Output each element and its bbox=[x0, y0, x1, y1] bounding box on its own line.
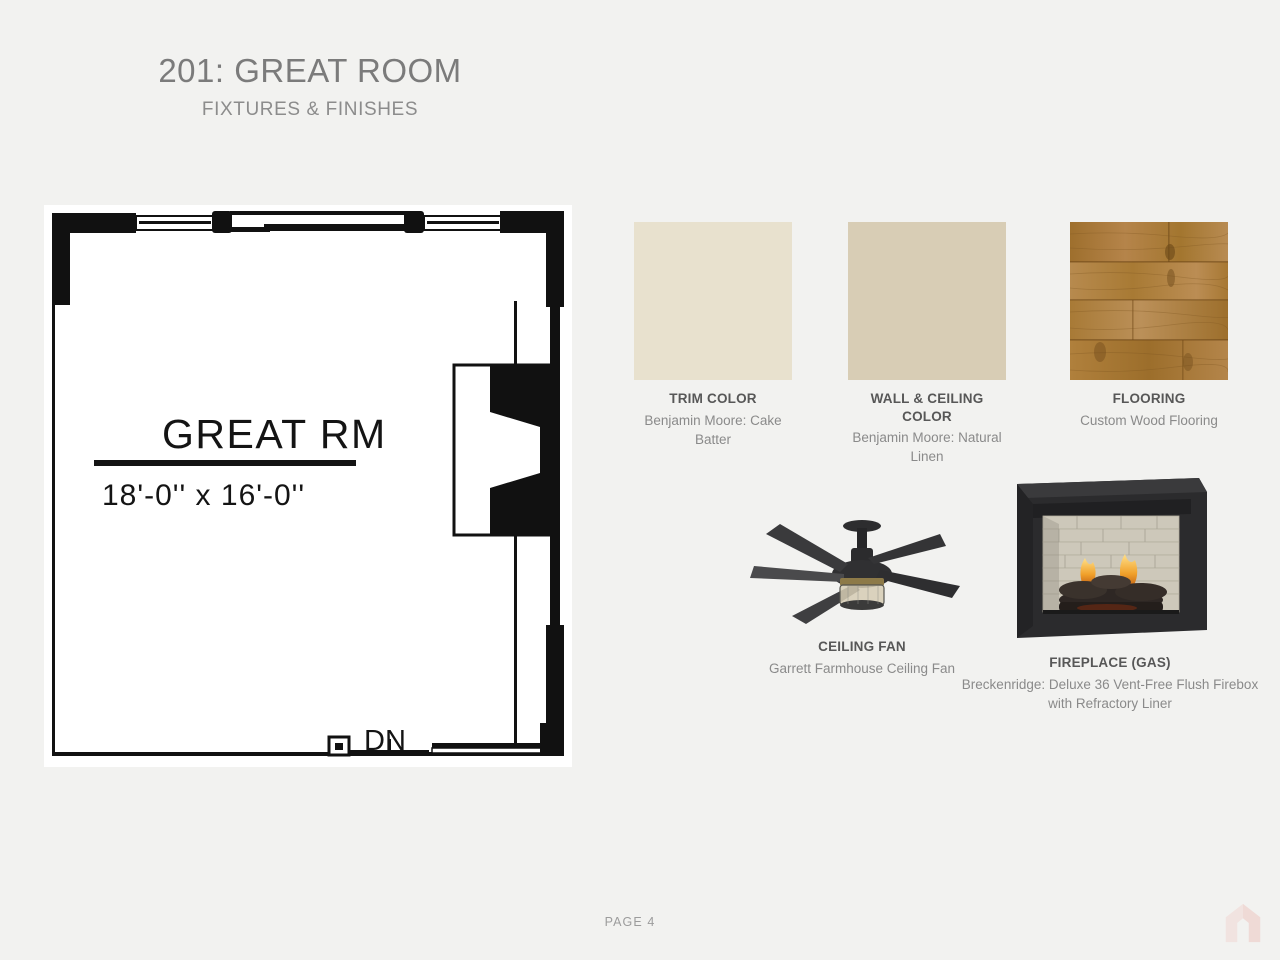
finish-item-wall[interactable]: WALL & CEILING COLOR Benjamin Moore: Nat… bbox=[848, 222, 1006, 466]
wall-right-upper bbox=[546, 211, 564, 307]
wall-post-1 bbox=[212, 211, 232, 233]
fireplace-label: FIREPLACE (GAS) bbox=[955, 654, 1265, 672]
window-right bbox=[424, 216, 502, 230]
trim-color-swatch[interactable] bbox=[634, 222, 792, 380]
stair-direction-label: DN bbox=[364, 725, 406, 757]
wall-left-line bbox=[52, 305, 55, 755]
room-label-underline bbox=[94, 460, 356, 466]
fireplace-photo[interactable] bbox=[999, 470, 1221, 646]
trim-color-label: TRIM COLOR bbox=[634, 390, 792, 408]
wall-post-2 bbox=[404, 211, 424, 233]
room-name-label: GREAT RM bbox=[162, 411, 387, 457]
window-left bbox=[136, 216, 214, 230]
finish-item-fireplace[interactable]: FIREPLACE (GAS) Breckenridge: Deluxe 36 … bbox=[955, 470, 1265, 713]
page-subtitle: FIXTURES & FINISHES bbox=[0, 99, 620, 121]
brand-logo-icon bbox=[1220, 900, 1266, 946]
page-title: 201: GREAT ROOM bbox=[0, 52, 620, 90]
beam-secondary bbox=[264, 224, 416, 231]
footer-page-number: PAGE 4 bbox=[0, 915, 1260, 929]
beam-secondary-tail bbox=[230, 227, 270, 232]
fireplace-description: Breckenridge: Deluxe 36 Vent-Free Flush … bbox=[955, 675, 1265, 713]
fireplace-chase bbox=[454, 365, 550, 535]
flooring-label: FLOORING bbox=[1070, 390, 1228, 408]
floorplan-panel: GREAT RM 18'-0'' x 16'-0'' DN bbox=[44, 205, 572, 767]
ceiling-fan-photo[interactable] bbox=[740, 512, 985, 632]
trim-color-description: Benjamin Moore: Cake Batter bbox=[634, 411, 792, 449]
beam-header-line bbox=[230, 211, 416, 215]
finish-item-trim[interactable]: TRIM COLOR Benjamin Moore: Cake Batter bbox=[634, 222, 792, 449]
fan-light-kit bbox=[840, 578, 884, 610]
page-header: 201: GREAT ROOM FIXTURES & FINISHES bbox=[0, 52, 620, 121]
flooring-description: Custom Wood Flooring bbox=[1070, 411, 1228, 430]
finish-item-flooring[interactable]: FLOORING Custom Wood Flooring bbox=[1070, 222, 1228, 430]
finishes-board: TRIM COLOR Benjamin Moore: Cake Batter W… bbox=[615, 222, 1265, 742]
wall-color-swatch[interactable] bbox=[848, 222, 1006, 380]
wall-color-label: WALL & CEILING COLOR bbox=[848, 390, 1006, 425]
flooring-material-swatch[interactable] bbox=[1070, 222, 1228, 380]
wall-color-description: Benjamin Moore: Natural Linen bbox=[848, 428, 1006, 466]
wall-left-upper-return bbox=[52, 213, 70, 305]
room-dimensions-label: 18'-0'' x 16'-0'' bbox=[102, 479, 305, 512]
wall-right-inner-line-2 bbox=[514, 535, 517, 753]
floorplan-drawing: GREAT RM 18'-0'' x 16'-0'' DN bbox=[44, 205, 572, 767]
